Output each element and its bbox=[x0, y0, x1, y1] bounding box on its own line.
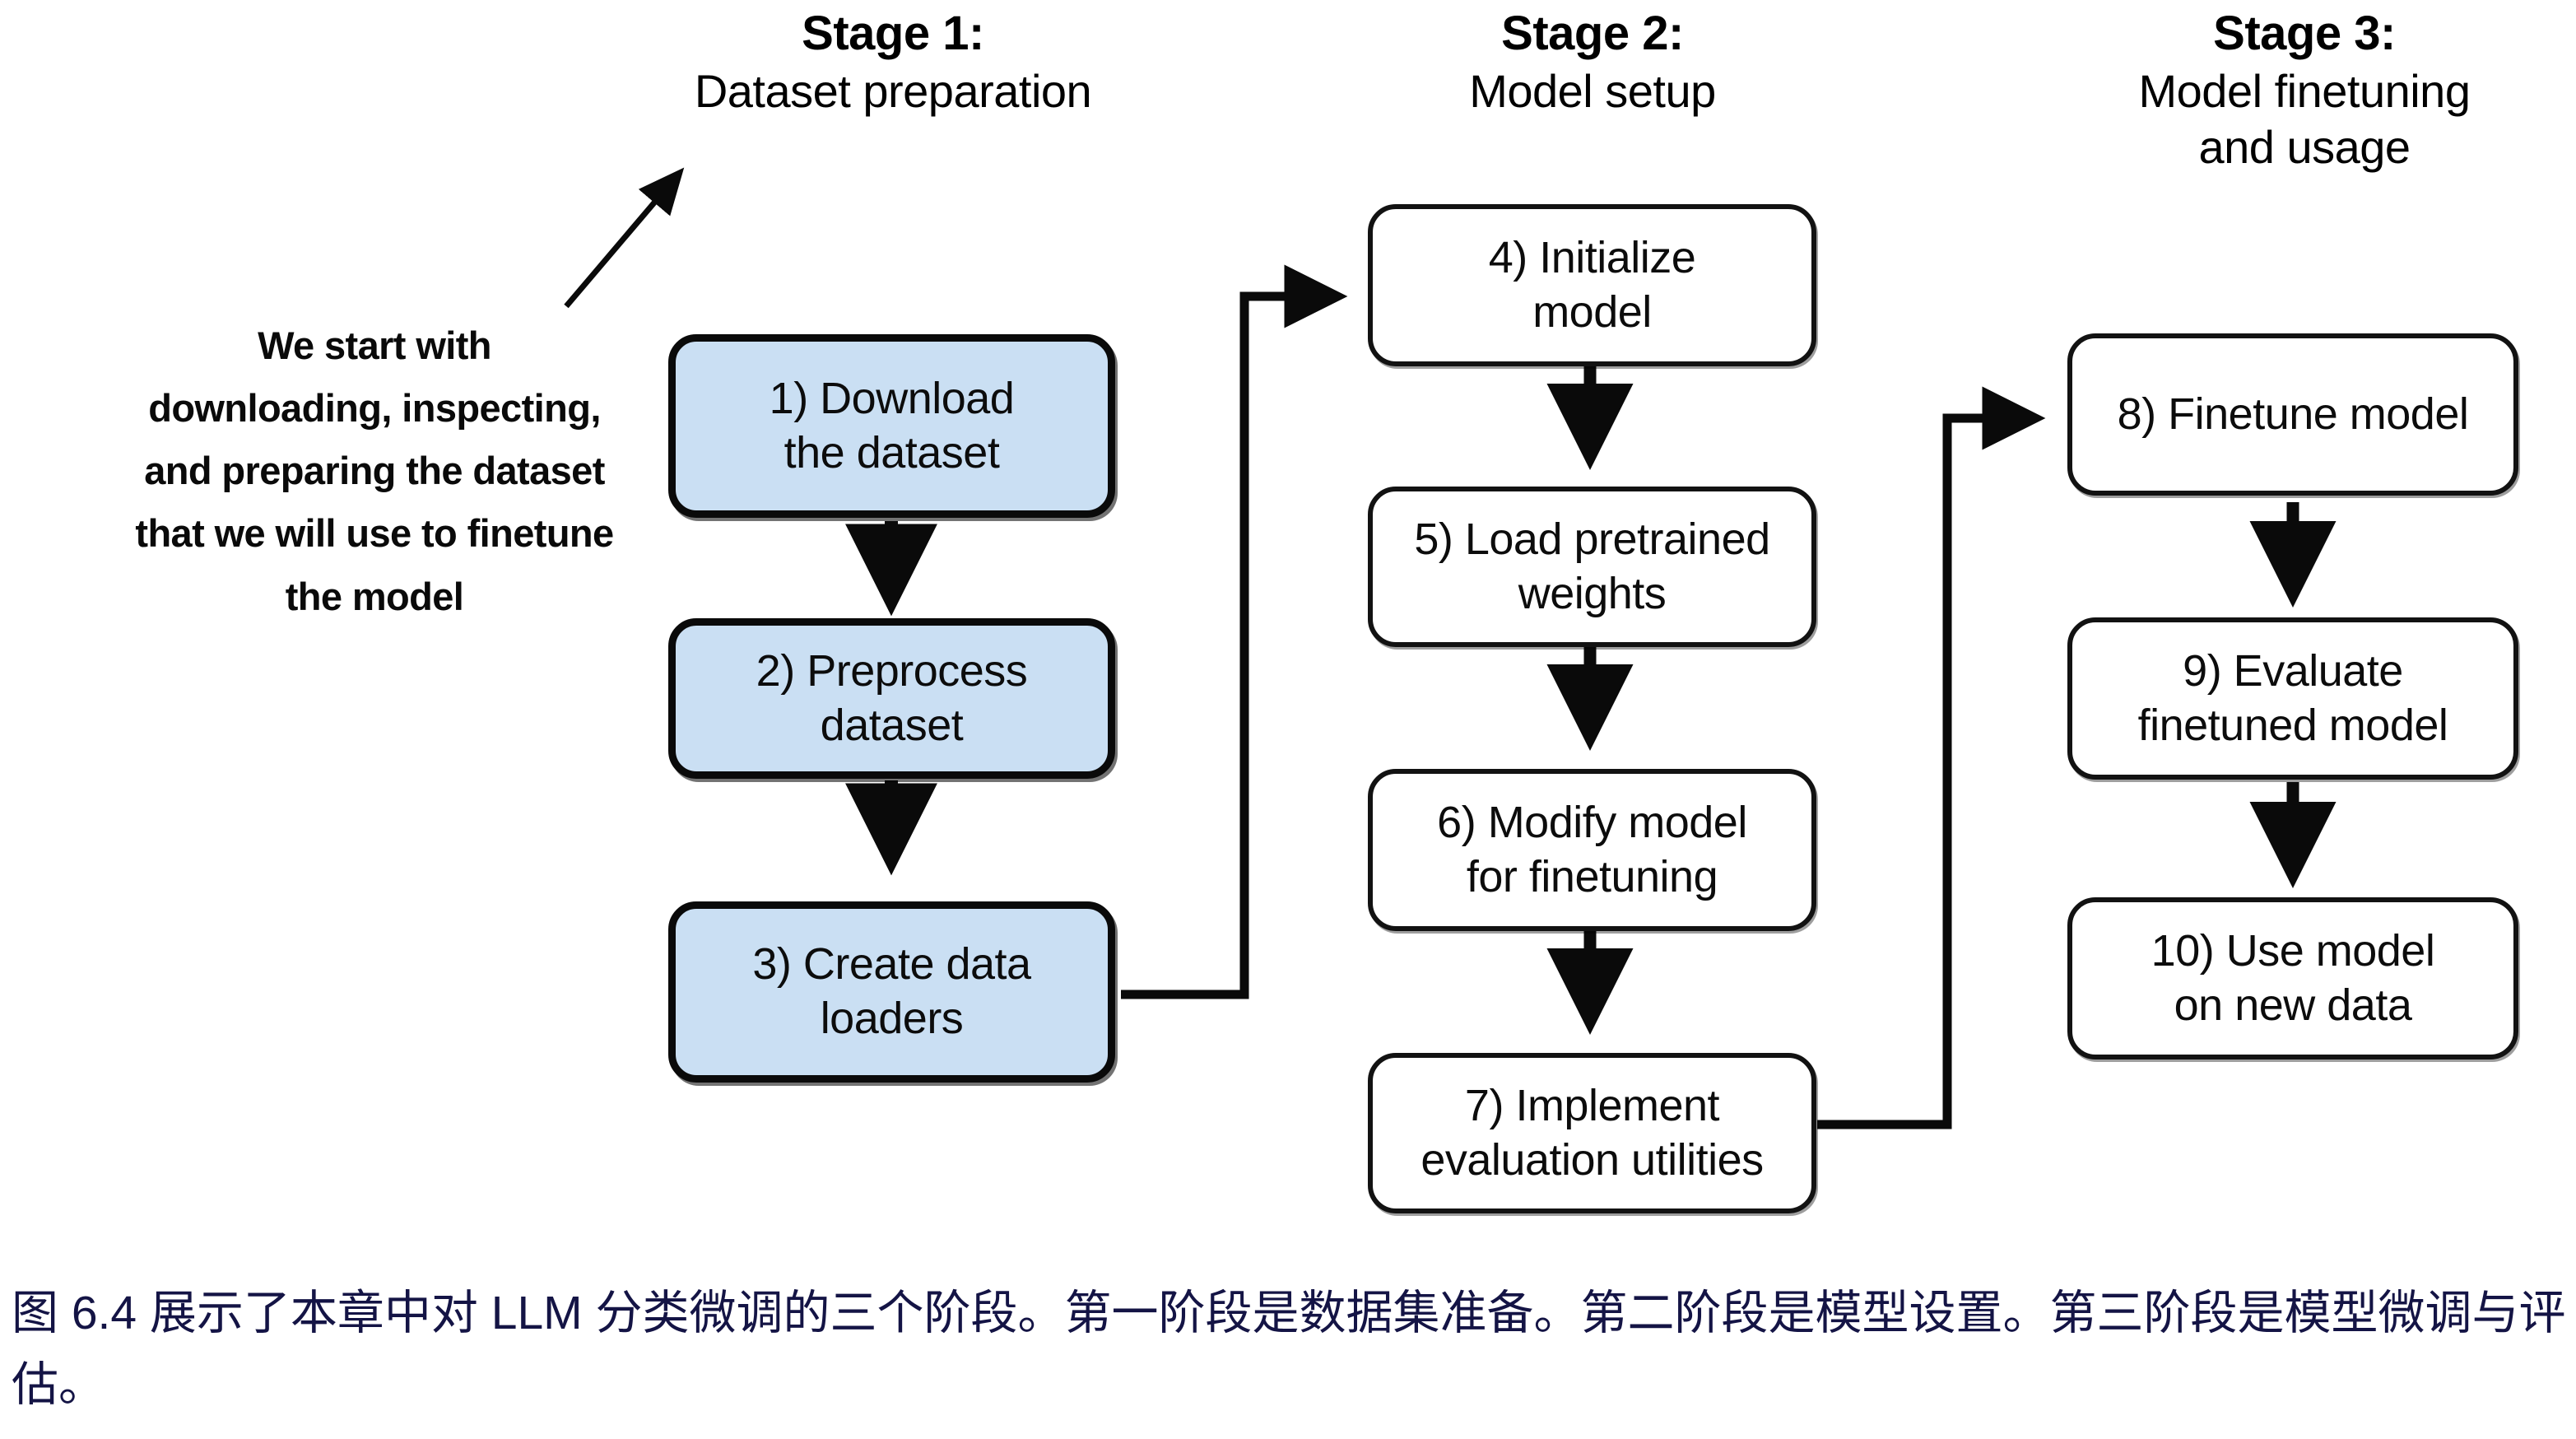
node-2-preprocess-dataset[interactable]: 2) Preprocess dataset bbox=[668, 618, 1115, 779]
stage-1-title: Stage 1: bbox=[601, 5, 1185, 63]
node-4-line-2: model bbox=[1532, 287, 1652, 337]
node-6-line-2: for finetuning bbox=[1467, 852, 1718, 901]
node-6-label: 6) Modify model for finetuning bbox=[1425, 796, 1759, 905]
node-2-line-2: dataset bbox=[821, 701, 964, 750]
stage-3-subtitle-line-1: Model finetuning bbox=[2033, 63, 2576, 119]
node-4-line-1: 4) Initialize bbox=[1489, 233, 1696, 282]
stage-2-subtitle-line-1: Model setup bbox=[1317, 63, 1868, 119]
figure-canvas: Stage 1: Dataset preparation Stage 2: Mo… bbox=[0, 0, 2576, 1439]
node-5-line-1: 5) Load pretrained bbox=[1414, 515, 1769, 564]
node-6-modify-model-for-finetuning[interactable]: 6) Modify model for finetuning bbox=[1368, 769, 1816, 931]
arrow-7-to-8 bbox=[1817, 418, 2033, 1125]
stage-2-title: Stage 2: bbox=[1317, 5, 1868, 63]
node-5-line-2: weights bbox=[1518, 569, 1667, 618]
annotation-arrow bbox=[566, 175, 678, 306]
annotation-line-4: that we will use to finetune bbox=[135, 511, 613, 555]
node-1-line-2: the dataset bbox=[784, 428, 1000, 477]
node-10-use-model-on-new-data[interactable]: 10) Use model on new data bbox=[2067, 897, 2518, 1059]
node-10-line-1: 10) Use model bbox=[2151, 926, 2435, 976]
node-4-label: 4) Initialize model bbox=[1477, 231, 1708, 340]
node-7-label: 7) Implement evaluation utilities bbox=[1409, 1079, 1774, 1188]
stage-header-1: Stage 1: Dataset preparation bbox=[601, 5, 1185, 119]
node-4-initialize-model[interactable]: 4) Initialize model bbox=[1368, 204, 1816, 366]
node-2-label: 2) Preprocess dataset bbox=[745, 645, 1039, 753]
stage-1-subtitle-line-1: Dataset preparation bbox=[601, 63, 1185, 119]
node-7-line-1: 7) Implement bbox=[1465, 1081, 1719, 1130]
annotation-line-1: We start with bbox=[258, 324, 491, 367]
node-10-label: 10) Use model on new data bbox=[2140, 924, 2447, 1033]
node-1-label: 1) Download the dataset bbox=[758, 372, 1026, 481]
node-9-evaluate-finetuned-model[interactable]: 9) Evaluate finetuned model bbox=[2067, 617, 2518, 780]
node-5-load-pretrained-weights[interactable]: 5) Load pretrained weights bbox=[1368, 487, 1816, 647]
node-9-line-2: finetuned model bbox=[2138, 701, 2448, 750]
node-5-label: 5) Load pretrained weights bbox=[1402, 513, 1781, 622]
node-1-line-1: 1) Download bbox=[770, 374, 1015, 423]
arrow-3-to-4 bbox=[1121, 296, 1335, 994]
node-8-line-1: 8) Finetune model bbox=[2118, 389, 2469, 439]
node-7-line-2: evaluation utilities bbox=[1421, 1135, 1763, 1185]
node-3-create-data-loaders[interactable]: 3) Create data loaders bbox=[668, 901, 1115, 1083]
node-1-download-dataset[interactable]: 1) Download the dataset bbox=[668, 334, 1115, 518]
node-8-finetune-model[interactable]: 8) Finetune model bbox=[2067, 333, 2518, 496]
node-10-line-2: on new data bbox=[2174, 980, 2412, 1030]
figure-caption: 图 6.4 展示了本章中对 LLM 分类微调的三个阶段。第一阶段是数据集准备。第… bbox=[12, 1278, 2571, 1420]
node-6-line-1: 6) Modify model bbox=[1437, 798, 1747, 847]
stage-3-title: Stage 3: bbox=[2033, 5, 2576, 63]
node-8-label: 8) Finetune model bbox=[2106, 388, 2481, 442]
node-9-label: 9) Evaluate finetuned model bbox=[2127, 645, 2460, 753]
node-2-line-1: 2) Preprocess bbox=[756, 646, 1028, 696]
stage-header-2: Stage 2: Model setup bbox=[1317, 5, 1868, 119]
node-7-implement-evaluation-utilities[interactable]: 7) Implement evaluation utilities bbox=[1368, 1053, 1816, 1213]
annotation-note: We start with downloading, inspecting, a… bbox=[91, 314, 658, 628]
node-3-label: 3) Create data loaders bbox=[741, 938, 1042, 1046]
annotation-line-3: and preparing the dataset bbox=[144, 449, 605, 492]
annotation-line-2: downloading, inspecting, bbox=[148, 386, 601, 430]
stage-header-3: Stage 3: Model finetuning and usage bbox=[2033, 5, 2576, 175]
node-9-line-1: 9) Evaluate bbox=[2183, 646, 2403, 696]
annotation-line-5: the model bbox=[286, 575, 464, 618]
node-3-line-2: loaders bbox=[821, 994, 964, 1043]
node-3-line-1: 3) Create data bbox=[752, 939, 1030, 989]
stage-3-subtitle-line-2: and usage bbox=[2033, 119, 2576, 175]
